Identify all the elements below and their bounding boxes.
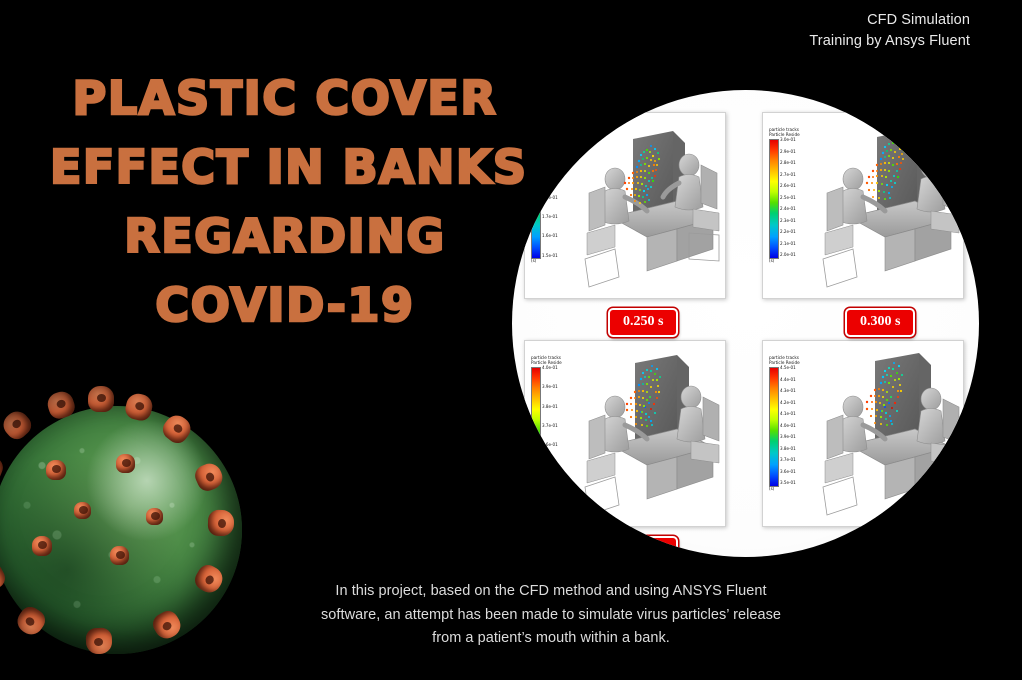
legend-tick: 2.4e-01 (780, 207, 796, 211)
time-badge: 0.250 s (608, 308, 678, 337)
legend-tick: 4.5e-01 (780, 366, 796, 370)
legend-tick: 4.1e-01 (780, 412, 796, 416)
legend-tick: 2.1e-01 (780, 242, 796, 246)
legend-tick: 2.1e-01 (542, 138, 558, 142)
legend-tick: 2.5e-01 (780, 196, 796, 200)
legend-tick: 4.0e-01 (780, 424, 796, 428)
legend-tick: 2.2e-01 (780, 230, 796, 234)
legend-tick: 3.7e-01 (780, 458, 796, 462)
title-line-1: PLASTIC COVER (50, 64, 520, 133)
virus-spike-icon (86, 628, 113, 655)
cfd-simulation-montage: particle tracks Particle Reside 2.1e-01 … (512, 90, 979, 557)
cfd-panel: particle tracks Particle Reside 4.0e-01 … (524, 340, 726, 527)
legend-tick: 2.0e-01 (780, 253, 796, 257)
virus-spike-icon (32, 536, 52, 556)
legend-tick: 3.8e-01 (780, 447, 796, 451)
legend-tick: 2.7e-01 (780, 173, 796, 177)
title-line-4: COVID-19 (50, 271, 520, 340)
legend-tick: 2.0e-01 (542, 157, 558, 161)
legend-tick: 3.0e-01 (780, 138, 796, 142)
cfd-scene (819, 121, 961, 297)
virus-spike-icon (74, 502, 91, 519)
virus-spike-icon (88, 386, 114, 412)
cfd-scene (819, 349, 961, 525)
legend-colorbar (531, 367, 541, 487)
caption-line-1: In this project, based on the CFD method… (251, 580, 851, 604)
cfd-panel: particle tracks Particle Reside 3.0e-01 … (762, 112, 964, 299)
cfd-scene (581, 349, 723, 525)
legend-tick: 3.8e-01 (542, 405, 558, 409)
legend-tick: 3.4e-01 (542, 482, 558, 486)
cfd-scene (581, 121, 723, 297)
cfd-panel: particle tracks Particle Reside 2.1e-01 … (524, 112, 726, 299)
legend-tick-labels: 4.0e-01 3.9e-01 3.8e-01 3.7e-01 3.6e-01 … (542, 366, 558, 486)
caption-line-2: software, an attempt has been made to si… (251, 604, 851, 628)
project-description: In this project, based on the CFD method… (251, 580, 851, 651)
legend-tick: 2.3e-01 (780, 219, 796, 223)
legend-tick: 1.6e-01 (542, 234, 558, 238)
legend-tick-labels: 4.5e-01 4.4e-01 4.3e-01 4.2e-01 4.1e-01 … (780, 366, 796, 486)
legend-tick: 1.7e-01 (542, 215, 558, 219)
time-badge: 0.400 s (845, 536, 915, 557)
time-badge: 0.300 s (845, 308, 915, 337)
legend-tick-labels: 3.0e-01 2.9e-01 2.8e-01 2.7e-01 2.6e-01 … (780, 138, 796, 258)
virus-spike-icon (110, 546, 129, 565)
virus-spike-icon (116, 454, 135, 473)
legend-tick: 2.9e-01 (780, 150, 796, 154)
caption-line-3: from a patient’s mouth within a bank. (251, 627, 851, 651)
virus-spike-icon (146, 508, 163, 525)
legend-tick: 3.9e-01 (780, 435, 796, 439)
legend-tick: 4.0e-01 (542, 366, 558, 370)
legend-tick: 1.5e-01 (542, 254, 558, 258)
cfd-panel-grid: particle tracks Particle Reside 2.1e-01 … (512, 90, 979, 557)
legend-tick: 2.8e-01 (780, 161, 796, 165)
virus-spike-icon (0, 407, 35, 444)
legend-colorbar (769, 139, 779, 259)
cfd-panel: particle tracks Particle Reside 4.5e-01 … (762, 340, 964, 527)
legend-tick: 2.6e-01 (780, 184, 796, 188)
legend-tick: 3.5e-01 (780, 481, 796, 485)
legend-tick-labels: 2.1e-01 2.0e-01 1.9e-01 1.8e-01 1.7e-01 … (542, 138, 558, 258)
legend-tick: 1.9e-01 (542, 177, 558, 181)
title-line-2: EFFECT IN BANKS (50, 133, 520, 202)
legend-tick: 3.5e-01 (542, 462, 558, 466)
header-line-2: Training by Ansys Fluent (809, 31, 970, 52)
legend-tick: 3.7e-01 (542, 424, 558, 428)
legend-tick: 4.2e-01 (780, 401, 796, 405)
legend-colorbar (769, 367, 779, 487)
legend-tick: 1.8e-01 (542, 196, 558, 200)
header-line-1: CFD Simulation (809, 10, 970, 31)
legend-tick: 4.4e-01 (780, 378, 796, 382)
virus-spike-icon (46, 460, 66, 480)
header-credit: CFD Simulation Training by Ansys Fluent (809, 10, 970, 52)
title-line-3: REGARDING (50, 202, 520, 271)
legend-tick: 3.6e-01 (780, 470, 796, 474)
page-title: PLASTIC COVER EFFECT IN BANKS REGARDING … (50, 64, 520, 340)
time-badge: 0.350 s (608, 536, 678, 557)
legend-tick: 4.3e-01 (780, 389, 796, 393)
legend-colorbar (531, 139, 541, 259)
virus-spike-icon (208, 510, 235, 537)
legend-tick: 3.9e-01 (542, 385, 558, 389)
legend-tick: 3.6e-01 (542, 443, 558, 447)
